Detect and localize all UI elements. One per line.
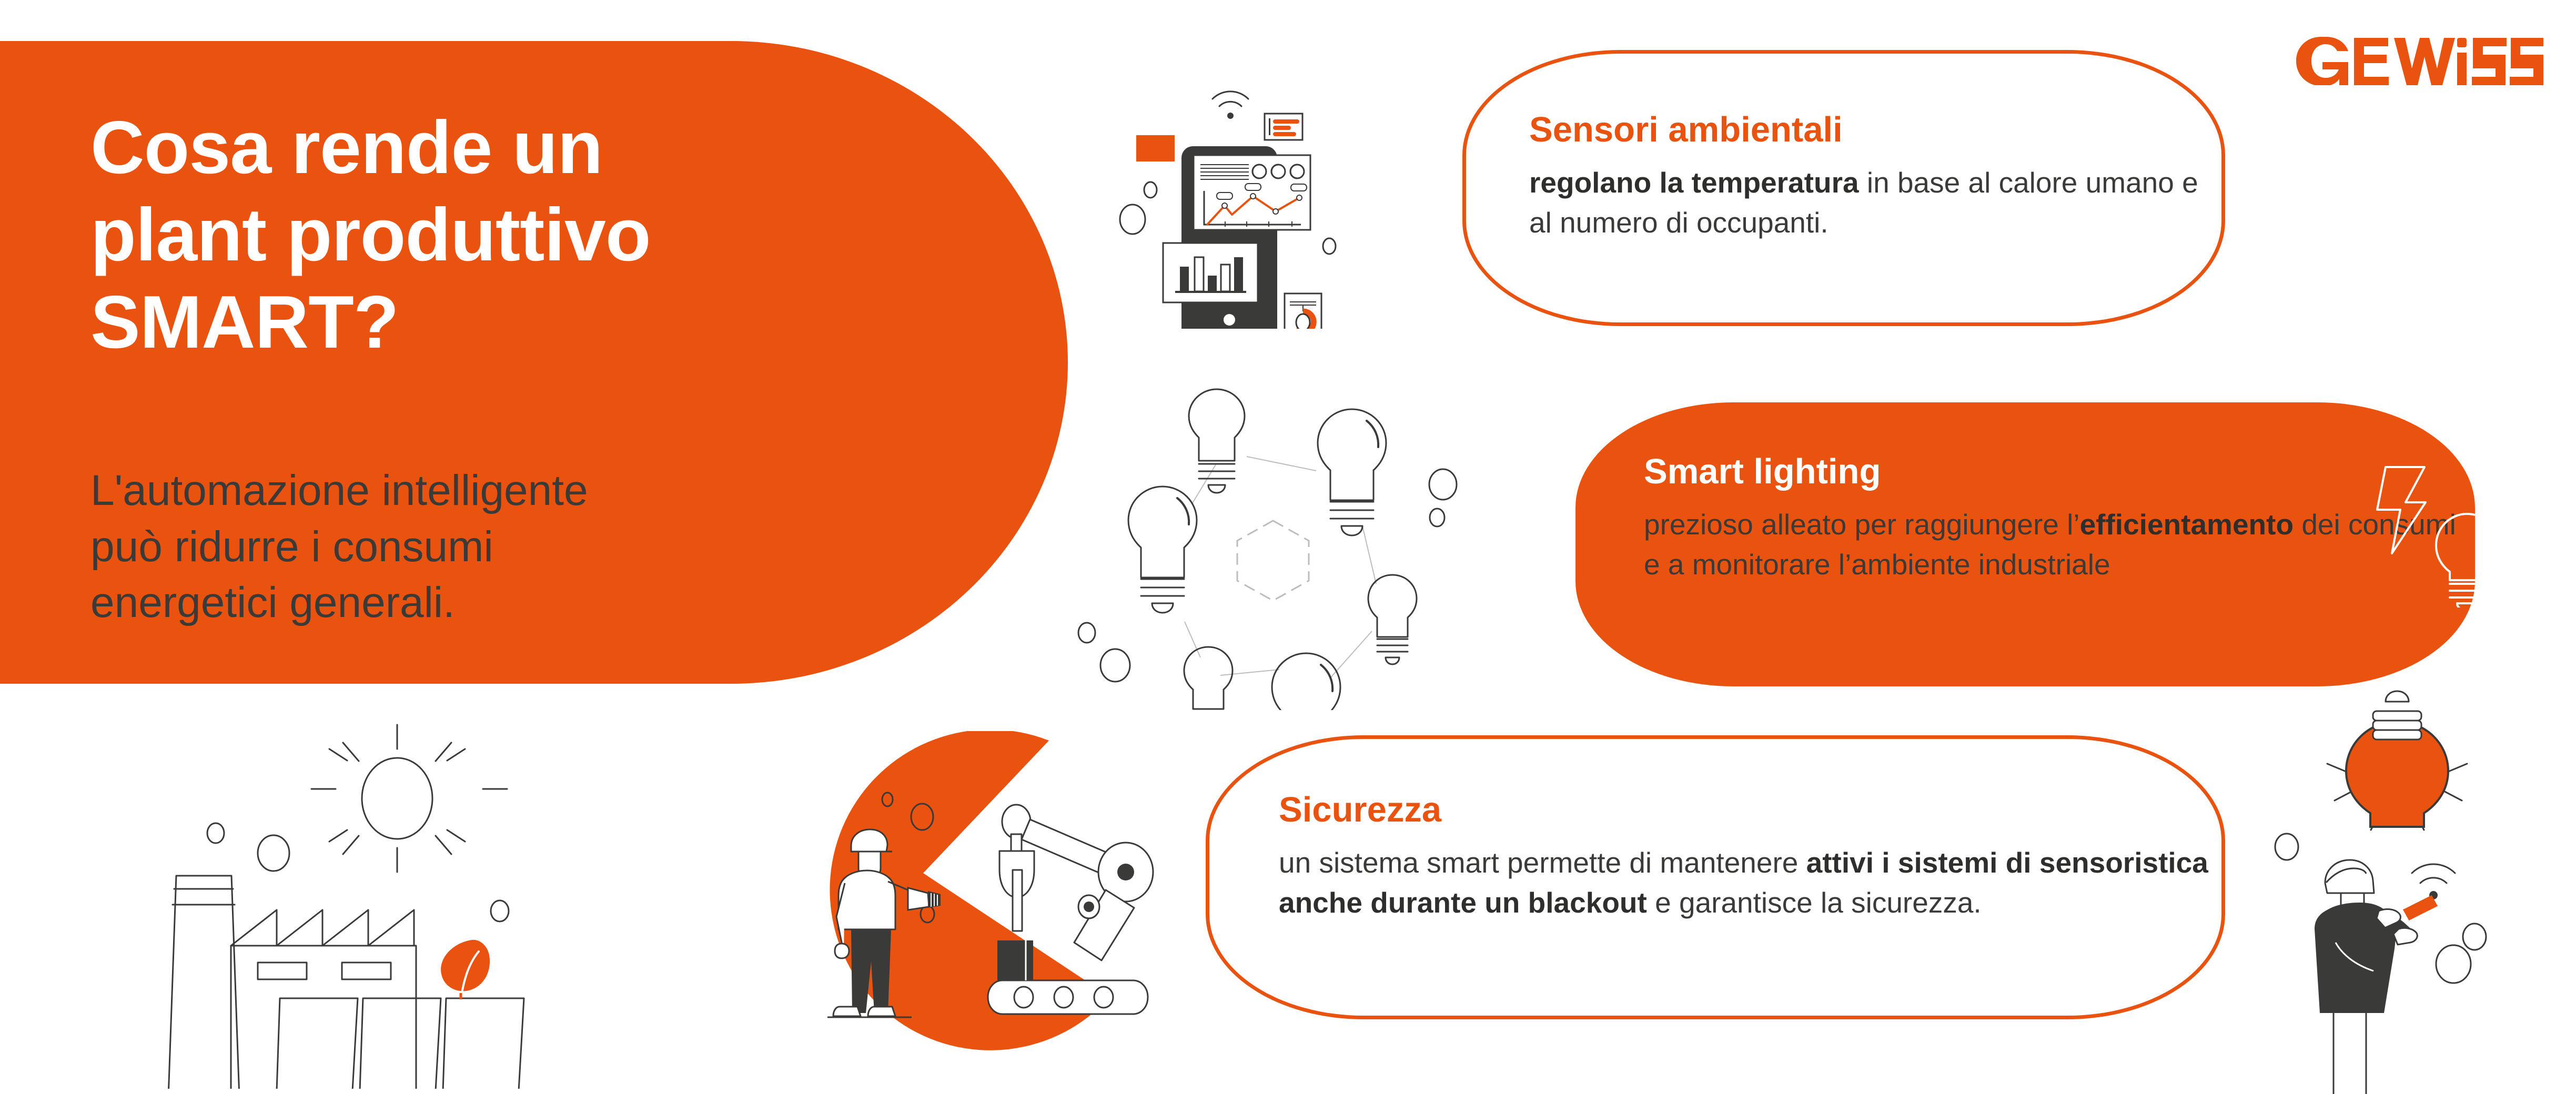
card-lighting-body-a: prezioso alleato per raggiungere l’ <box>1644 508 2080 541</box>
gewiss-logo <box>2296 37 2543 85</box>
crate <box>997 940 1033 980</box>
wifi-signal-icon <box>1213 92 1248 106</box>
text-list-card <box>1265 114 1302 140</box>
wifi-signal-icon <box>2412 864 2455 883</box>
sun-icon <box>311 725 507 872</box>
infographic-canvas: Cosa rende un plant produttivo SMART? L'… <box>0 0 2576 1094</box>
dashed-hexagon-decor <box>1237 521 1309 601</box>
orange-leaf-icon <box>441 940 490 999</box>
page-subtitle: L'automazione intelligente può ridurre i… <box>90 463 827 631</box>
factory-chimney <box>168 876 240 1089</box>
bubble-decor <box>1078 623 1095 643</box>
card-lighting-title: Smart lighting <box>1644 452 2475 491</box>
bubble-decor <box>1429 469 1457 500</box>
page-title: Cosa rende un plant produttivo SMART? <box>90 104 932 366</box>
card-sicurezza-body: un sistema smart permette di mantenere a… <box>1279 843 2221 923</box>
bubble-decor <box>2275 834 2298 860</box>
card-lighting-body-bold: efficientamento <box>2080 508 2294 541</box>
lightning-bolt-icon <box>2377 467 2426 553</box>
bubble-decor <box>1430 509 1444 526</box>
connection-lines <box>1185 457 1376 678</box>
bar-chart-card <box>1163 243 1258 302</box>
orange-square-decor <box>1136 135 1175 161</box>
card-sensori-body: regolano la temperatura in base al calor… <box>1529 163 2221 243</box>
card-sensori-title: Sensori ambientali <box>1529 110 2221 149</box>
smartphone-icon <box>2404 896 2437 919</box>
line-chart-card <box>1194 155 1310 230</box>
lightbulb-icon <box>1318 409 1386 535</box>
solar-panel <box>443 998 524 1089</box>
lightbulb-network-illustration <box>1063 363 1468 710</box>
bubble-decor <box>1323 238 1336 254</box>
bubble-decor <box>2463 924 2486 950</box>
worker-robot-arm-illustration <box>715 731 1157 1057</box>
card-smart-lighting: Smart lighting prezioso alleato per ragg… <box>1575 402 2475 686</box>
smart-dashboard-tablet-illustration <box>1084 42 1420 329</box>
legs <box>2333 1007 2366 1094</box>
lightbulb-icon <box>1272 653 1340 710</box>
donut-chart-card <box>1285 293 1321 329</box>
lightbulb-outline-icon <box>2436 514 2498 607</box>
person-smartphone-bulb-illustration <box>2241 678 2576 1094</box>
robotic-arm <box>988 805 1153 1014</box>
card-sensori-body-bold: regolano la temperatura <box>1529 166 1859 199</box>
lightbulb-icon <box>1189 389 1245 493</box>
hand <box>835 944 849 958</box>
bubble-decor <box>1120 205 1145 234</box>
lightbulb-icon <box>1184 647 1233 710</box>
bolt-and-bulb-icon <box>2354 434 2517 607</box>
bubble-decor <box>2436 945 2471 983</box>
bubble-decor <box>491 900 509 921</box>
bubble-decor <box>258 835 289 871</box>
solar-panel <box>360 998 441 1089</box>
person-figure <box>2315 860 2437 1094</box>
bulb-base <box>2373 691 2421 740</box>
lightbulb-icon <box>1368 575 1417 664</box>
bubble-decor <box>207 823 224 843</box>
lightbulb-icon <box>1128 487 1197 613</box>
orange-glowing-bulb-icon <box>2327 691 2467 830</box>
card-sicurezza-body-b: e garantisce la sicurezza. <box>1647 886 1982 919</box>
card-sicurezza: Sicurezza un sistema smart permette di m… <box>1206 735 2225 1019</box>
solar-panel <box>277 998 358 1089</box>
factory-solar-illustration <box>84 705 547 1089</box>
factory-building <box>231 910 416 1089</box>
wifi-dot-icon <box>1227 113 1234 119</box>
bubble-decor <box>1100 649 1130 682</box>
bubble-decor <box>1144 182 1157 198</box>
card-sensori-ambientali: Sensori ambientali regolano la temperatu… <box>1462 50 2225 326</box>
card-sicurezza-title: Sicurezza <box>1279 791 2221 829</box>
card-sicurezza-body-a: un sistema smart permette di mantenere <box>1279 846 1806 879</box>
card-lighting-body: prezioso alleato per raggiungere l’effic… <box>1644 505 2475 585</box>
